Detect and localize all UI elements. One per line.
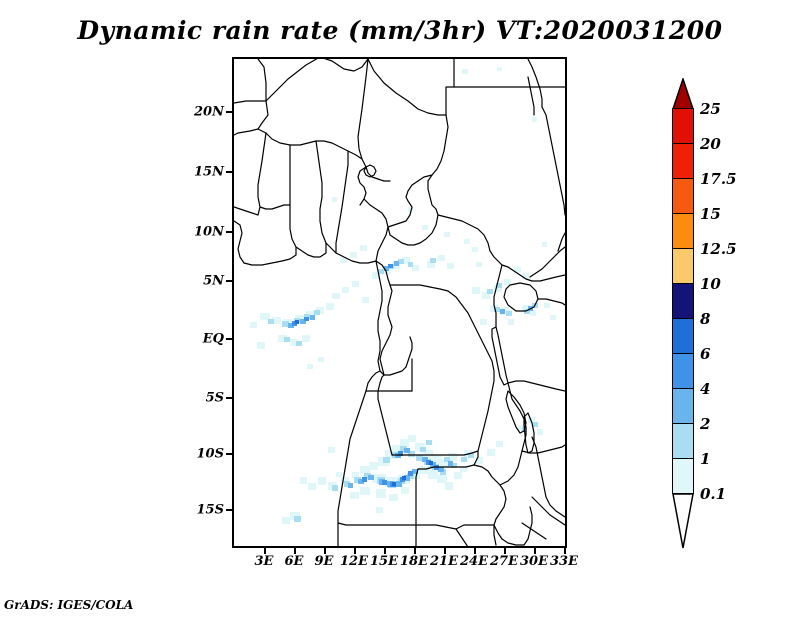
colorbar-segment-10-12.5 (672, 248, 694, 284)
colorbar-segment-12.5-15 (672, 213, 694, 249)
colorbar-label-6: 6 (700, 345, 710, 363)
colorbar-segment-6-8 (672, 318, 694, 354)
xaxis-label-18E: 18E (400, 554, 428, 569)
ytick-20N (226, 111, 232, 113)
colorbar-segment-17.5-20 (672, 143, 694, 179)
ytick-15S (226, 509, 232, 511)
grads-attribution: GrADS: IGES/COLA (4, 598, 133, 612)
ytick-5N (226, 280, 232, 282)
colorbar-label-4: 4 (700, 380, 710, 398)
colorbar-label-8: 8 (700, 310, 710, 328)
ytick-15N (226, 171, 232, 173)
xaxis-label-27E: 27E (490, 554, 518, 569)
yaxis-label-5N: 5N (186, 274, 224, 289)
colorbar-label-10: 10 (700, 275, 721, 293)
map-plot-area (232, 57, 567, 548)
ytick-10S (226, 453, 232, 455)
xaxis-label-12E: 12E (340, 554, 368, 569)
xaxis-label-3E: 3E (255, 554, 274, 569)
xaxis-label-33E: 33E (550, 554, 578, 569)
colorbar-label-17.5: 17.5 (700, 170, 737, 188)
page-title: Dynamic rain rate (mm/3hr) VT:2020031200 (0, 16, 800, 45)
xaxis-label-6E: 6E (285, 554, 304, 569)
yaxis-label-15N: 15N (186, 165, 224, 180)
yaxis-label-10S: 10S (186, 447, 224, 462)
yaxis-label-5S: 5S (186, 391, 224, 406)
ytick-5S (226, 397, 232, 399)
xaxis-label-15E: 15E (370, 554, 398, 569)
colorbar-segment-4-6 (672, 353, 694, 389)
colorbar: 25 20 17.5 15 12.5 10 8 6 4 2 1 0.1 (672, 78, 694, 545)
colorbar-label-15: 15 (700, 205, 721, 223)
colorbar-label-2: 2 (700, 415, 710, 433)
colorbar-top-arrow (672, 78, 694, 110)
colorbar-segment-15-17.5 (672, 178, 694, 214)
xaxis-label-21E: 21E (430, 554, 458, 569)
xaxis-label-9E: 9E (315, 554, 334, 569)
xaxis-label-24E: 24E (460, 554, 488, 569)
ytick-EQ (226, 338, 232, 340)
colorbar-label-12.5: 12.5 (700, 240, 737, 258)
colorbar-bottom-arrow (672, 493, 694, 549)
xaxis-label-30E: 30E (520, 554, 548, 569)
colorbar-segment-0.1-1 (672, 458, 694, 494)
colorbar-label-25: 25 (700, 100, 721, 118)
yaxis-label-EQ: EQ (186, 332, 224, 347)
yaxis-label-15S: 15S (186, 503, 224, 518)
yaxis-label-10N: 10N (186, 225, 224, 240)
yaxis-label-20N: 20N (186, 105, 224, 120)
grads-plot-page: Dynamic rain rate (mm/3hr) VT:2020031200 (0, 0, 800, 618)
ytick-10N (226, 231, 232, 233)
colorbar-segment-1-2 (672, 423, 694, 459)
map-canvas (232, 57, 567, 548)
colorbar-label-0.1: 0.1 (700, 485, 726, 503)
colorbar-label-20: 20 (700, 135, 721, 153)
colorbar-segment-2-4 (672, 388, 694, 424)
country-borders (234, 57, 565, 547)
colorbar-segment-20-25 (672, 108, 694, 144)
colorbar-segment-8-10 (672, 283, 694, 319)
colorbar-label-1: 1 (700, 450, 710, 468)
